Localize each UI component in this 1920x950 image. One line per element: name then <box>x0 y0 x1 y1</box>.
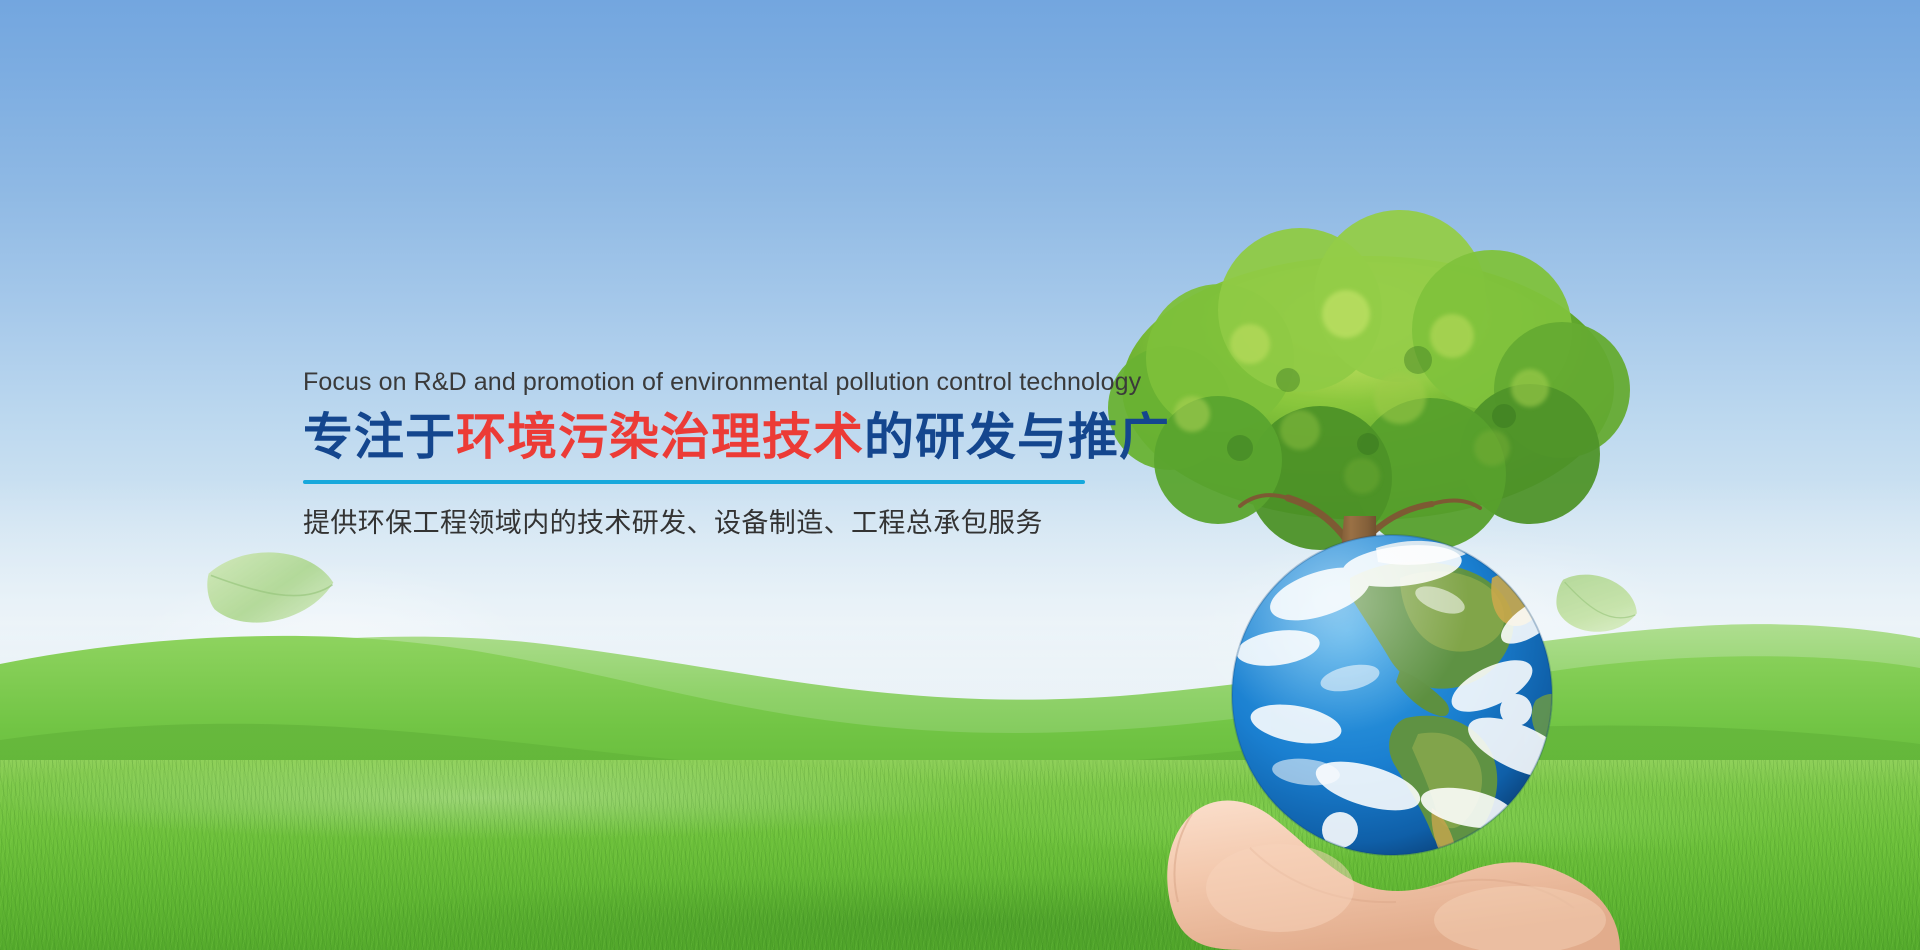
banner-eyebrow-english: Focus on R&D and promotion of environmen… <box>303 365 1103 399</box>
banner-tagline: 提供环保工程领域内的技术研发、设备制造、工程总承包服务 <box>303 504 1103 542</box>
hero-banner: Focus on R&D and promotion of environmen… <box>0 0 1920 950</box>
headline-highlight: 环境污染治理技术 <box>456 409 864 465</box>
earth-globe <box>1232 535 1580 862</box>
headline-divider <box>303 480 1085 484</box>
banner-headline: 专注于环境污染治理技术的研发与推广 <box>303 408 1103 466</box>
headline-part2: 的研发与推广 <box>864 409 1170 465</box>
headline-part1: 专注于 <box>303 409 456 465</box>
tree-globe-hands-illustration <box>1100 248 1660 950</box>
tree-canopy <box>1108 210 1630 550</box>
banner-copy: Focus on R&D and promotion of environmen… <box>303 365 1103 542</box>
leaf-icon <box>200 538 344 647</box>
